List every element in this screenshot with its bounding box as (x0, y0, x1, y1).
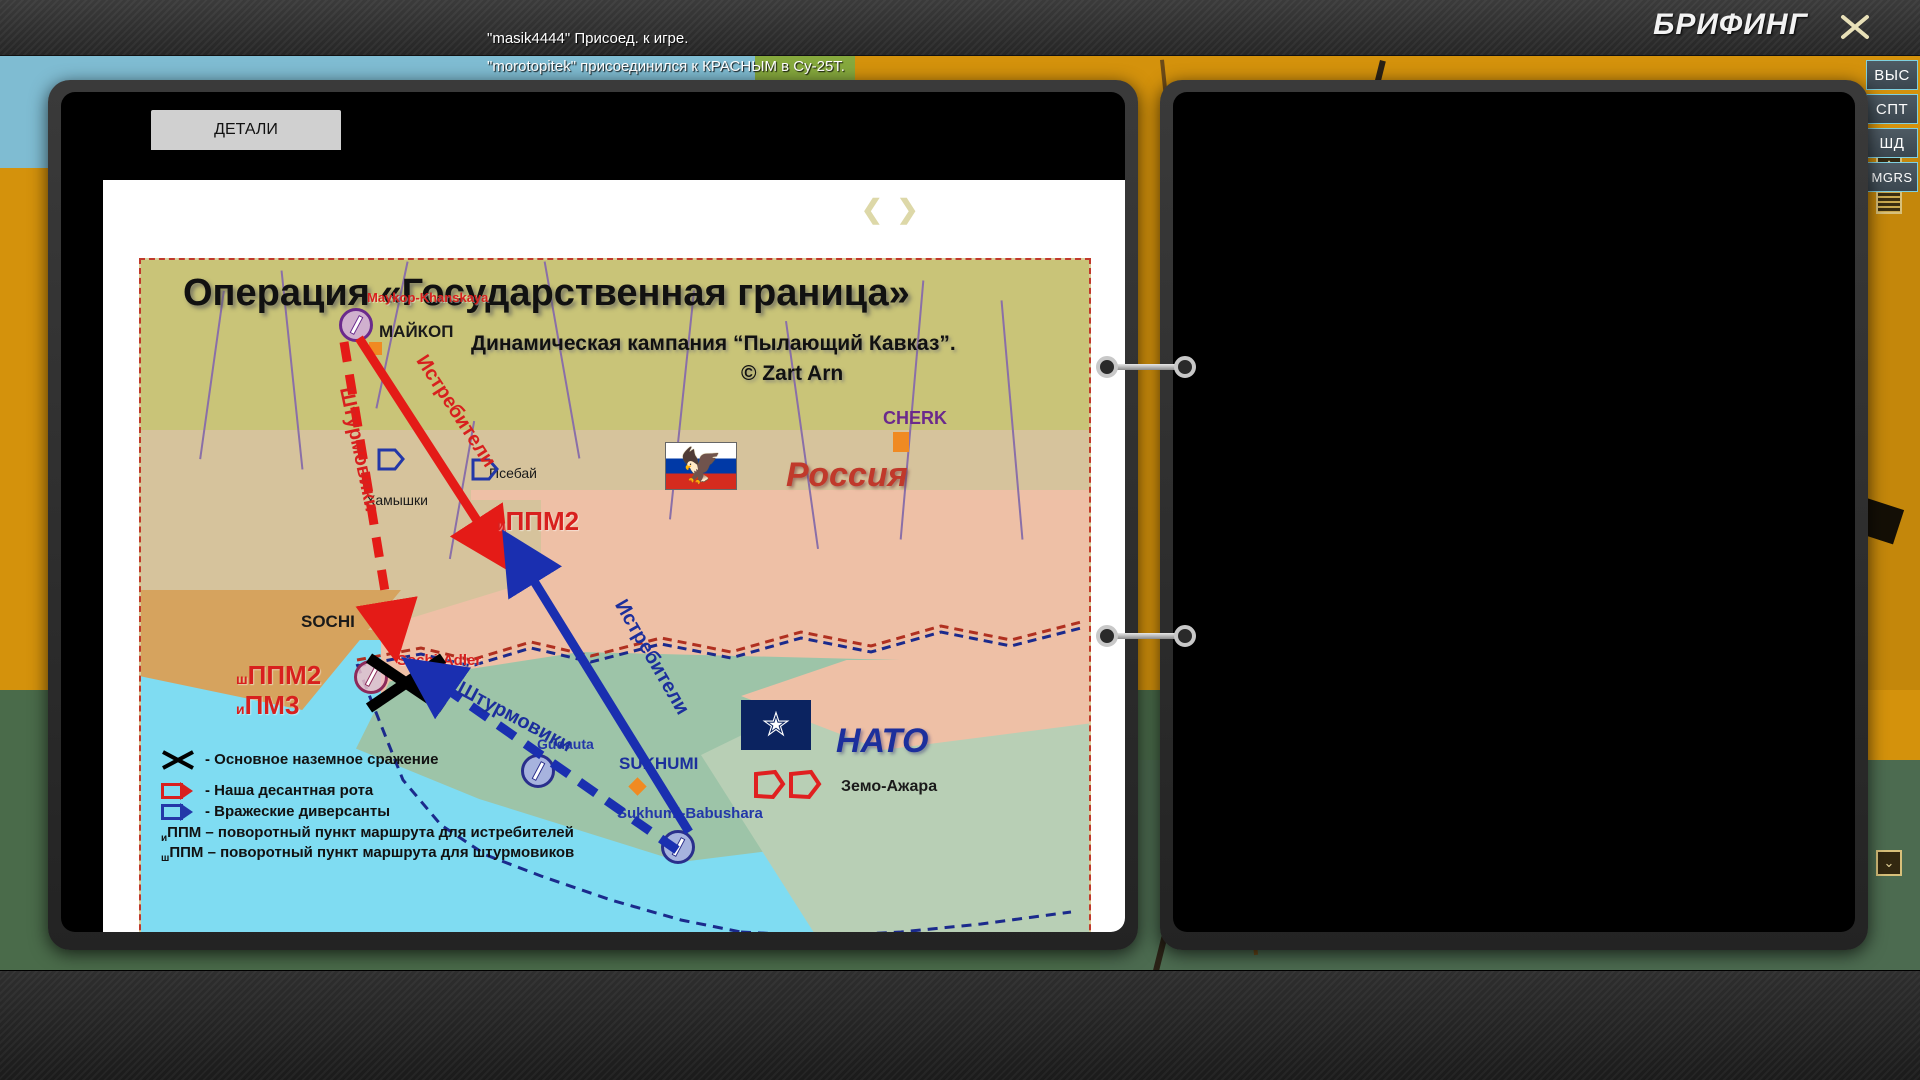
waypoint-prefix: и (236, 701, 245, 717)
next-page-button[interactable]: ❯ (897, 196, 919, 222)
battle-cross-icon (161, 746, 195, 772)
legend-item-diversants-label: - Вражеские диверсанты (205, 803, 390, 820)
waypoint-text: ПМ3 (245, 690, 300, 720)
briefing-right-page (1160, 80, 1868, 950)
legend-ppm-attack-label: ППМ – поворотный пункт маршрута для штур… (169, 844, 574, 861)
current-page-number: 1 (933, 200, 942, 218)
waypoint-text: ППМ2 (248, 660, 322, 690)
binder-ring (1096, 356, 1196, 378)
page-title: БРИФИНГ (1653, 8, 1808, 42)
map-controls: ВЫС СПТ ШД MGRS (1864, 60, 1920, 196)
city-label-sukhumi: SUKHUMI (619, 754, 698, 774)
briefing-dialog: ДЕТАЛИ ❮ ❯ 1 ИЗ 2 (48, 80, 1868, 950)
nato-label: НАТО (836, 722, 928, 761)
legend-item-landing: - Наша десантная рота (161, 782, 581, 799)
total-page-number: 2 (991, 200, 1000, 218)
russia-flag-icon: 🦅 (665, 442, 737, 490)
city-label-sochi: SOCHI (301, 612, 355, 632)
airfield-maykop-khanskaya (339, 308, 373, 342)
chat-message: "morotopitek" присоединился к КРАСНЫМ в … (487, 58, 845, 75)
map-button-altitude[interactable]: ВЫС (1866, 60, 1918, 90)
enemy-diversant-marker (377, 446, 405, 472)
legend-ppm-attack: шППМ – поворотный пункт маршрута для шту… (161, 844, 581, 864)
map-title: Операция «Государственная граница» (183, 272, 910, 315)
waypoint-prefix: и (497, 517, 506, 533)
page-of-label: ИЗ (956, 200, 977, 218)
city-dot (893, 432, 909, 452)
chat-message: "masik4444" Присоед. к игре. (487, 30, 688, 47)
tab-details[interactable]: ДЕТАЛИ (151, 110, 341, 150)
tab-details-label: ДЕТАЛИ (214, 121, 278, 139)
mission-map-image: Операция «Государственная граница» Динам… (139, 258, 1091, 932)
russia-label: Россия (786, 456, 908, 495)
map-legend: - Основное наземное сражение - Наша деса… (161, 746, 581, 864)
russia-emblem-icon: 🦅 (680, 449, 722, 483)
map-button-latlon-label: ШД (1880, 135, 1905, 152)
waypoint-attack-ppm2: шППМ2 (236, 660, 321, 691)
map-button-sat-label: СПТ (1876, 101, 1908, 118)
legend-item-landing-label: - Наша десантная рота (205, 782, 373, 799)
landing-company-marker (753, 768, 833, 802)
red-arrow-icon (161, 783, 195, 799)
map-button-mgrs-label: MGRS (1872, 170, 1913, 185)
title-bar: БРИФИНГ (0, 0, 1920, 56)
map-button-altitude-label: ВЫС (1874, 67, 1910, 84)
airfield-label-sukhumi-babushara: Sukhumi-Babushara (617, 805, 763, 822)
airfield-sukhumi-babushara (661, 830, 695, 864)
map-button-sat[interactable]: СПТ (1866, 94, 1918, 124)
briefing-right-page-inner (1173, 92, 1855, 932)
city-label-zemo-azhara: Земо-Ажара (841, 778, 937, 796)
map-button-mgrs[interactable]: MGRS (1866, 162, 1918, 192)
legend-item-battle-label: - Основное наземное сражение (205, 751, 438, 768)
briefing-scrollbar[interactable]: ^ ⌄ (1876, 152, 1902, 876)
legend-item-diversants: - Вражеские диверсанты (161, 803, 581, 820)
waypoint-fighter-ppm2: иППМ2 (497, 506, 579, 537)
legend-ppm-fighters: иППМ – поворотный пункт маршрута для ист… (161, 824, 581, 844)
footer-bar (0, 970, 1920, 1080)
waypoint-text: ППМ2 (506, 506, 580, 536)
map-button-latlon[interactable]: ШД (1866, 128, 1918, 158)
briefing-left-page-inner: ДЕТАЛИ ❮ ❯ 1 ИЗ 2 (61, 92, 1125, 932)
binder-ring (1096, 625, 1196, 647)
map-subtitle-author: © Zart Arn (741, 362, 843, 386)
nato-flag-icon: ✭ (741, 700, 811, 750)
city-dot (369, 342, 382, 355)
waypoint-prefix: ш (236, 671, 248, 687)
blue-arrow-icon (161, 804, 195, 820)
city-label-cherkessk: CHERK (883, 408, 947, 429)
airfield-label-maykop: Maykop-Khanskaya (367, 290, 488, 305)
page-navigation: ❮ ❯ 1 ИЗ 2 (861, 196, 1000, 222)
legend-ppm-fighters-label: ППМ – поворотный пункт маршрута для истр… (167, 824, 574, 841)
prev-page-button[interactable]: ❮ (861, 196, 883, 222)
close-icon[interactable] (1838, 10, 1872, 44)
nato-emblem-icon: ✭ (762, 708, 791, 742)
legend-item-battle: - Основное наземное сражение (161, 746, 581, 772)
city-label-maykop: МАЙКОП (379, 322, 453, 342)
briefing-left-page: ДЕТАЛИ ❮ ❯ 1 ИЗ 2 (48, 80, 1138, 950)
waypoint-fighter-pm3: иПМ3 (236, 690, 299, 721)
main-ground-battle-icon (361, 648, 451, 718)
map-subtitle-campaign: Динамическая кампания “Пылающий Кавказ”. (471, 332, 956, 356)
chevron-down-icon[interactable]: ⌄ (1876, 850, 1902, 876)
